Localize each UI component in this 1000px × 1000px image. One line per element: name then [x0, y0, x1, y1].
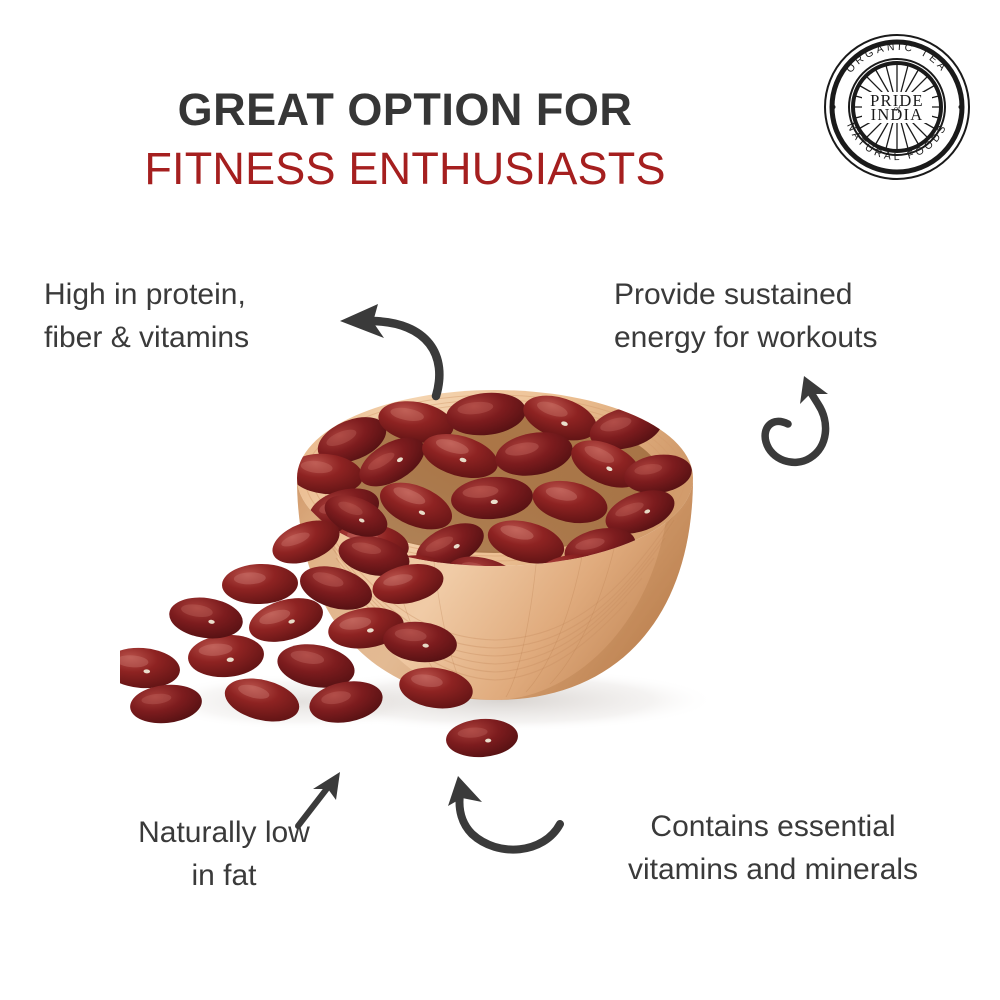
product-photo [120, 370, 800, 800]
page-title: GREAT OPTION FOR FITNESS ENTHUSIASTS [0, 86, 810, 192]
headline-line-1: GREAT OPTION FOR [0, 86, 810, 134]
arrow-to-beans-bottom-left-icon [290, 770, 346, 832]
arrow-to-beans-bottom-right-icon [436, 768, 564, 866]
callout-high-in-protein: High in protein, fiber & vitamins [44, 274, 344, 359]
headline-line-2: FITNESS ENTHUSIASTS [0, 145, 810, 193]
callout-sustained-energy: Provide sustained energy for workouts [614, 274, 984, 359]
product-infographic: GREAT OPTION FOR FITNESS ENTHUSIASTS [0, 0, 1000, 1000]
arrow-to-beans-top-left-icon [324, 296, 456, 402]
arrow-to-beans-top-right-icon [752, 372, 856, 480]
callout-essential-vitamins-minerals: Contains essential vitamins and minerals [586, 806, 960, 891]
pride-of-india-logo-icon: PRIDE INDIA of ORGANIC TEA NATURAL FOODS [822, 32, 972, 182]
